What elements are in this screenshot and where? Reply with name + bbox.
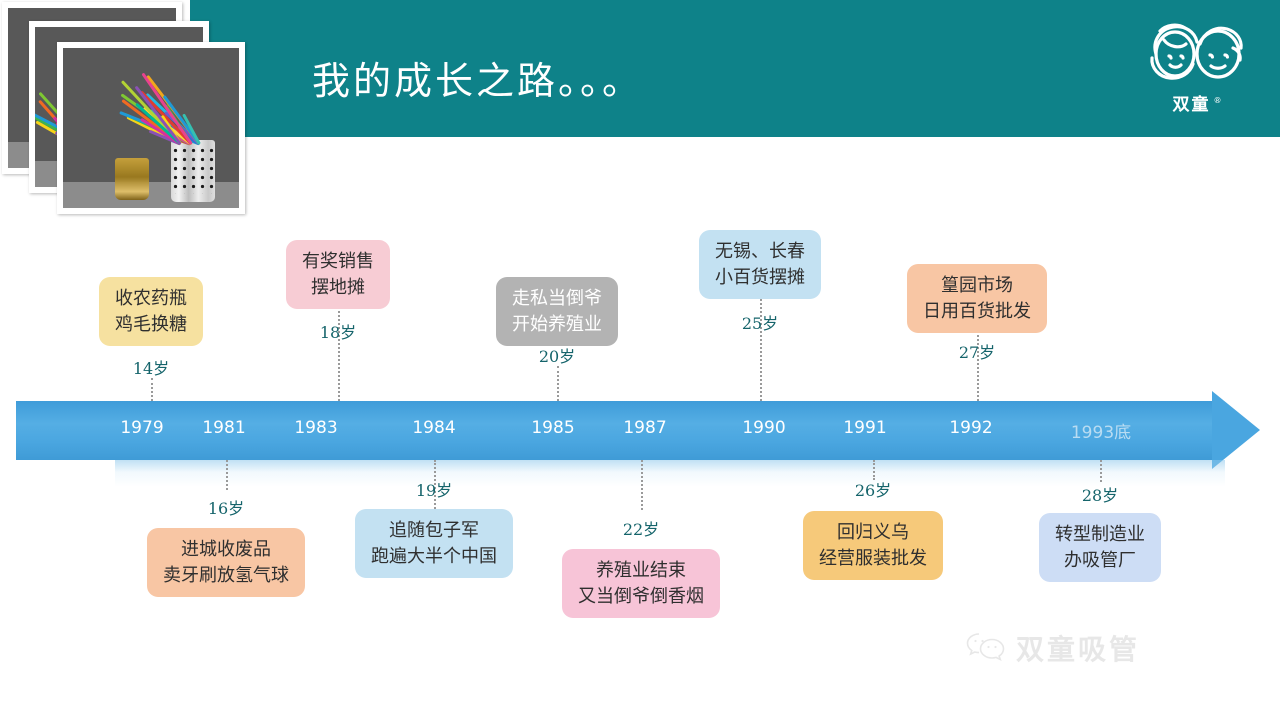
- event-box-line: 走私当倒爷: [512, 286, 602, 312]
- connector-line-18岁: [338, 300, 340, 401]
- age-label-22岁: 22岁: [623, 516, 659, 540]
- photo-card-front: [57, 42, 245, 214]
- timeline-year-1981: 1981: [202, 418, 245, 438]
- event-box-line: 卖牙刷放氢气球: [163, 563, 289, 589]
- slide-canvas: 我的成长之路。。。: [0, 0, 1280, 721]
- age-label-26岁: 26岁: [855, 477, 891, 501]
- event-box-line: 回归义乌: [819, 520, 927, 546]
- event-box-line: 收农药瓶: [115, 286, 187, 312]
- timeline-year-1984: 1984: [412, 418, 455, 438]
- age-label-19岁: 19岁: [416, 477, 452, 501]
- connector-line-16岁: [226, 460, 228, 490]
- event-box-22岁[interactable]: 养殖业结束又当倒爷倒香烟: [562, 549, 720, 618]
- registered-mark-icon: ®: [1214, 96, 1224, 105]
- age-label-18岁: 18岁: [320, 319, 356, 343]
- age-label-14岁: 14岁: [133, 355, 169, 379]
- event-box-line: 办吸管厂: [1055, 548, 1145, 574]
- event-box-27岁[interactable]: 篁园市场日用百货批发: [907, 264, 1047, 333]
- event-box-line: 无锡、长春: [715, 239, 805, 265]
- event-box-line: 开始养殖业: [512, 312, 602, 338]
- age-label-25岁: 25岁: [742, 310, 778, 334]
- event-box-26岁[interactable]: 回归义乌经营服装批发: [803, 511, 943, 580]
- event-box-28岁[interactable]: 转型制造业办吸管厂: [1039, 513, 1161, 582]
- timeline-year-1979: 1979: [120, 418, 163, 438]
- event-box-line: 篁园市场: [923, 273, 1031, 299]
- two-children-faces-logo-icon: [1138, 18, 1258, 90]
- brand-logo: 双童®: [1138, 18, 1258, 123]
- event-box-line: 追随包子军: [371, 518, 497, 544]
- event-box-16岁[interactable]: 进城收废品卖牙刷放氢气球: [147, 528, 305, 597]
- timeline-year-1992: 1992: [949, 418, 992, 438]
- wechat-icon: [965, 631, 1007, 666]
- timeline-year-1983: 1983: [294, 418, 337, 438]
- age-label-27岁: 27岁: [959, 339, 995, 363]
- connector-line-25岁: [760, 290, 762, 401]
- event-box-14岁[interactable]: 收农药瓶鸡毛换糖: [99, 277, 203, 346]
- event-box-line: 养殖业结束: [578, 558, 704, 584]
- timeline-year-1990: 1990: [742, 418, 785, 438]
- event-box-line: 摆地摊: [302, 275, 374, 301]
- timeline-year-1987: 1987: [623, 418, 666, 438]
- connector-line-14岁: [151, 378, 153, 401]
- event-box-line: 有奖销售: [302, 249, 374, 275]
- connector-line-28岁: [1100, 460, 1102, 482]
- logo-wordmark: 双童®: [1138, 90, 1258, 115]
- watermark: 双童吸管: [965, 628, 1140, 668]
- timeline-year-1985: 1985: [531, 418, 574, 438]
- event-box-line: 跑遍大半个中国: [371, 544, 497, 570]
- event-box-line: 经营服装批发: [819, 546, 927, 572]
- straw-holder: [171, 140, 215, 202]
- event-box-line: 鸡毛换糖: [115, 312, 187, 338]
- photo-stack: [2, 2, 247, 214]
- event-box-20岁[interactable]: 走私当倒爷开始养殖业: [496, 277, 618, 346]
- age-label-28岁: 28岁: [1082, 482, 1118, 506]
- event-box-line: 进城收废品: [163, 537, 289, 563]
- page-title: 我的成长之路。。。: [312, 50, 643, 105]
- event-box-line: 小百货摆摊: [715, 265, 805, 291]
- event-box-18岁[interactable]: 有奖销售摆地摊: [286, 240, 390, 309]
- glass-tumbler: [115, 158, 149, 200]
- age-label-20岁: 20岁: [539, 343, 575, 367]
- connector-line-20岁: [557, 366, 559, 401]
- event-box-line: 又当倒爷倒香烟: [578, 584, 704, 610]
- event-box-line: 日用百货批发: [923, 299, 1031, 325]
- connector-line-22岁: [641, 460, 643, 510]
- age-label-16岁: 16岁: [208, 495, 244, 519]
- event-box-25岁[interactable]: 无锡、长春小百货摆摊: [699, 230, 821, 299]
- event-box-line: 转型制造业: [1055, 522, 1145, 548]
- timeline-reflection: [115, 460, 1225, 487]
- timeline-year-1991: 1991: [843, 418, 886, 438]
- timeline-year-1993底: 1993底: [1071, 418, 1131, 443]
- watermark-text: 双童吸管: [1016, 628, 1140, 668]
- event-box-19岁[interactable]: 追随包子军跑遍大半个中国: [355, 509, 513, 578]
